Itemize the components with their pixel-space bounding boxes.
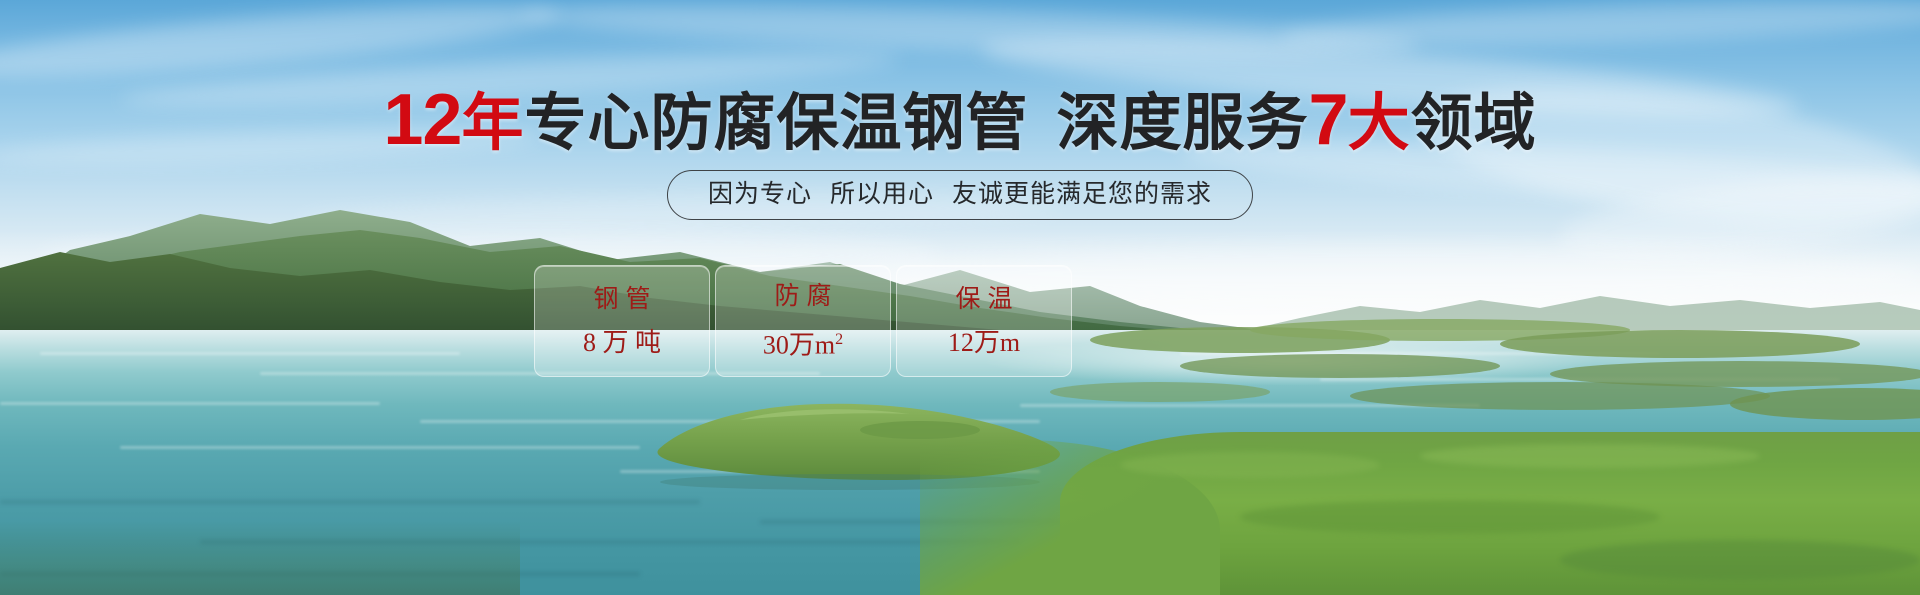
stat-value-text: 8 万 吨 (583, 328, 661, 357)
stat-card-anticorrosion: 防腐 30万m2 (715, 265, 891, 377)
stat-value-exponent: 2 (835, 331, 843, 348)
stat-value: 30万m2 (763, 325, 843, 361)
headline-fields-number: 7 (1309, 80, 1348, 160)
stat-card-steel-pipe: 钢管 8 万 吨 (534, 265, 710, 377)
stat-card-group: 钢管 8 万 吨 防腐 30万m2 保温 12万m (534, 265, 1072, 377)
stat-value-text: 12万m (948, 328, 1020, 357)
headline-part2: 深度服务 (1057, 89, 1309, 158)
hero-banner: 12年专心防腐保温钢管深度服务7大领域 因为专心所以用心友诚更能满足您的需求 钢… (0, 0, 1920, 595)
stat-label: 钢管 (586, 284, 657, 314)
stat-card-insulation: 保温 12万m (896, 265, 1072, 377)
subtitle-seg-2: 所以用心 (830, 180, 934, 208)
subtitle-pill: 因为专心所以用心友诚更能满足您的需求 (667, 170, 1253, 220)
subtitle-seg-1: 因为专心 (708, 180, 812, 208)
headline-part3: 领域 (1411, 89, 1537, 158)
banner-content: 12年专心防腐保温钢管深度服务7大领域 因为专心所以用心友诚更能满足您的需求 钢… (0, 0, 1920, 595)
headline-years-number: 12 (383, 80, 461, 160)
stat-value: 8 万 吨 (583, 328, 661, 358)
stat-value: 12万m (948, 328, 1020, 358)
page-title: 12年专心防腐保温钢管深度服务7大领域 (0, 85, 1920, 159)
subtitle-seg-3: 友诚更能满足您的需求 (952, 180, 1212, 208)
stat-label: 保温 (948, 284, 1019, 314)
headline-fields-unit: 大 (1348, 89, 1411, 158)
stat-value-text: 30万m (763, 331, 835, 360)
headline-years-unit: 年 (461, 89, 524, 158)
stat-label: 防腐 (767, 281, 838, 311)
headline-part1: 专心防腐保温钢管 (525, 89, 1029, 158)
